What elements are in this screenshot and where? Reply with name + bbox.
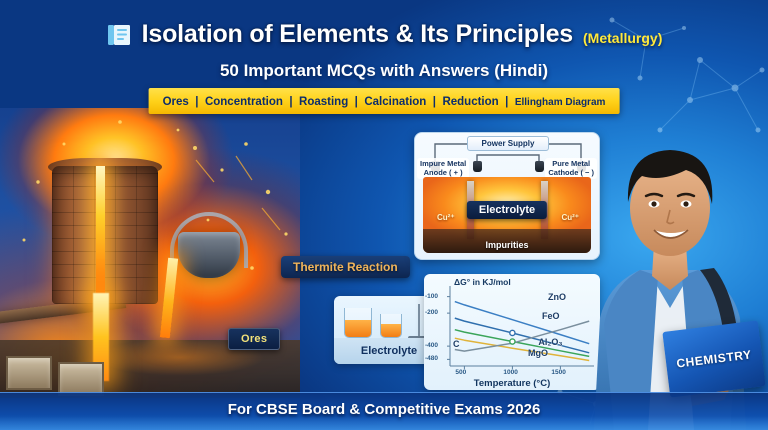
electrolyte-tag: Electrolyte [467,201,547,219]
ore-crate [6,356,52,390]
stand-rod [418,304,420,338]
cathode-label: Pure Metal Cathode ( − ) [545,158,597,179]
ellingham-series-label-zno: ZnO [548,292,566,302]
poster-canvas: Ores Thermite Reaction Power Supply Impu… [0,0,768,430]
student-photo: CHEMISTRY [574,118,764,430]
chemistry-book: CHEMISTRY [662,320,765,397]
beaker-small [380,314,402,338]
cathode-label-line1: Pure Metal [552,159,590,168]
chemistry-book-title: CHEMISTRY [676,347,753,370]
electrolytic-refining-diagram: Power Supply Impure Metal Anode ( + ) Pu… [414,132,600,260]
topic-ellingham: Ellingham Diagram [515,97,606,108]
topic-ores: Ores [163,96,189,108]
topic-separator: | [503,96,510,108]
ellingham-xtick: 1500 [551,369,565,376]
furnace-flame-slit [96,166,105,308]
ellingham-ytick: -480 [425,355,438,362]
page-subtitle: 50 Important MCQs with Answers (Hindi) [0,61,768,81]
ellingham-series-label-mgo: MgO [528,348,548,358]
student-figure [574,118,764,430]
topic-separator: | [431,96,438,108]
furnace-body [52,166,158,304]
thermite-reaction-badge: Thermite Reaction [281,256,410,278]
terminal-clip [473,161,482,172]
ellingham-series-label-c: C [453,339,460,349]
beaker-large [344,308,372,338]
ladle-molten-stream [160,258,178,339]
ellingham-ytick: -200 [425,309,438,316]
topic-roasting: Roasting [299,96,348,108]
page-title: Isolation of Elements & Its Principles [142,20,573,49]
anode-label-line1: Impure Metal [420,159,466,168]
ion-label-right: Cu²⁺ [561,213,579,222]
anode-label: Impure Metal Anode ( + ) [417,158,469,179]
topic-separator: | [353,96,360,108]
ellingham-ytick: -100 [425,293,438,300]
blast-furnace-illustration [0,108,300,398]
topic-concentration: Concentration [205,96,283,108]
ores-badge: Ores [228,328,280,350]
topic-separator: | [287,96,294,108]
footer-bar: For CBSE Board & Competitive Exams 2026 [0,392,768,430]
impurities-label: Impurities [485,240,528,250]
book-icon [106,22,132,48]
ellingham-diagram: ΔG° in KJ/mol Temperature (°C) 500100015… [424,274,600,390]
ellingham-series-label-feo: FeO [542,311,560,321]
topics-bar: Ores | Concentration | Roasting | Calcin… [149,88,620,114]
ellingham-xaxis-label: Temperature (°C) [424,378,600,389]
ellingham-xtick: 1000 [503,369,517,376]
topic-reduction: Reduction [442,96,498,108]
ion-label-left: Cu²⁺ [437,213,455,222]
ellingham-ytick: -400 [425,342,438,349]
footer-glow [0,416,768,430]
title-row: Isolation of Elements & Its Principles (… [0,20,768,49]
terminal-clip [535,161,544,172]
ladle [178,232,240,278]
topic-separator: | [193,96,200,108]
page-title-suffix: (Metallurgy) [583,30,662,49]
ellingham-series-label-al2o3: Al₂O₃ [538,337,562,347]
topic-calcination: Calcination [364,96,426,108]
ore-crate [58,362,104,396]
ellingham-xtick: 500 [455,369,466,376]
